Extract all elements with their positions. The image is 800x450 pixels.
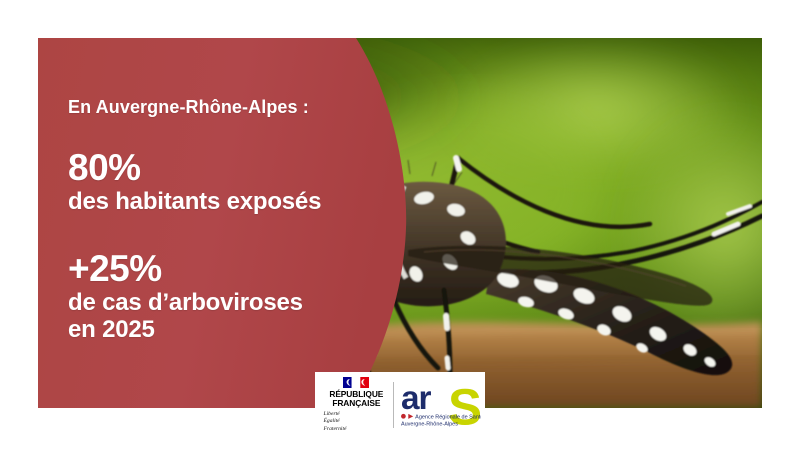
devise-egalite: Égalité [324,418,391,425]
french-flag-icon [343,377,369,388]
ars-tagline-2: Auvergne-Rhône-Alpes [401,422,458,428]
logo-divider [393,382,394,428]
headline-text-block: En Auvergne-Rhône-Alpes : 80% des habita… [68,96,388,343]
devise-fraternite: Fraternité [324,426,391,433]
stat-exposure-number: 80% [68,149,388,187]
region-kicker: En Auvergne-Rhône-Alpes : [68,96,388,119]
stat-arbovirus: +25% de cas d’arboviroses en 2025 [68,250,388,343]
svg-text:ar: ar [401,380,432,417]
devise-block: Liberté Égalité Fraternité [323,411,391,433]
ars-tagline-1: Agence Régionale de Santé [415,414,481,420]
infographic-banner: En Auvergne-Rhône-Alpes : 80% des habita… [0,0,800,450]
logo-bar: RÉPUBLIQUE FRANÇAISE Liberté Égalité Fra… [315,372,485,438]
stat-arbovirus-label: de cas d’arboviroses en 2025 [68,290,388,344]
marianne-logo: RÉPUBLIQUE FRANÇAISE Liberté Égalité Fra… [319,377,390,433]
stat-arbovirus-number: +25% [68,250,388,288]
stat-exposure: 80% des habitants exposés [68,149,388,216]
francaise-line: FRANÇAISE [332,399,380,408]
ars-logo: S ar Agence Régionale de Santé Auvergne-… [399,377,481,433]
stat-exposure-label: des habitants exposés [68,189,388,216]
